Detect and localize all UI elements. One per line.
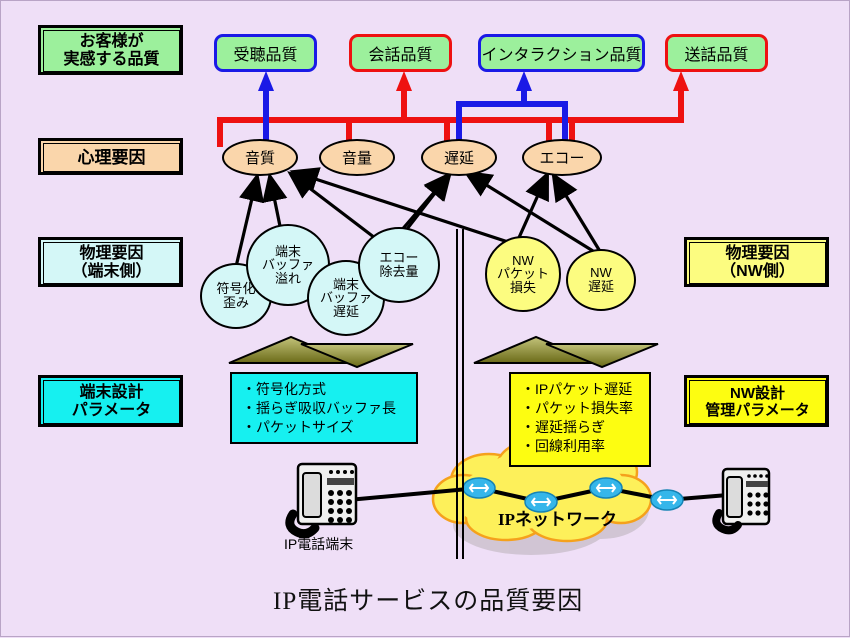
category-plate-psychological: 心理要因 [38,138,183,175]
link-stem-transmission [678,87,684,121]
router-icon [651,490,683,510]
category-plate-customer-quality: お客様が 実感する品質 [38,25,183,75]
link-interaction-trunk [456,101,568,107]
diagram-title: IP電話サービスの品質要因 [273,581,583,617]
link-stem-conversation [401,87,407,119]
category-plate-customer-quality-label: お客様が 実感する品質 [43,30,180,72]
ip-phone-right-icon [716,469,769,530]
link-riser-onshitsu-red [217,117,223,147]
physical-nw-packet-loss[interactable]: NW パケット 損失 [485,236,561,312]
diagram-canvas: お客様が 実感する品質 心理要因 物理要因 （端末側） 物理要因 （NW側） 端… [0,0,850,637]
network-parameters-box: ・IPパケット遅延 ・パケット損失率 ・遅延揺らぎ ・回線利用率 [509,372,651,467]
psychological-echo[interactable]: エコー [522,139,602,176]
quality-box-conversation[interactable]: 会話品質 [349,34,452,72]
quality-box-interaction[interactable]: インタラクション品質 [478,34,645,72]
center-divider-line-2 [462,229,464,559]
category-plate-terminal-design-param: 端末設計 パラメータ [38,375,183,427]
ip-phone-left-icon [290,464,356,534]
quality-box-transmission[interactable]: 送話品質 [665,34,768,72]
connector-overlay [1,1,850,638]
network-links [337,488,728,502]
category-plate-physical-network: 物理要因 （NW側） [684,237,829,287]
category-plate-physical-network-label: 物理要因 （NW側） [689,242,826,284]
arrow-to-echo-right [554,176,601,253]
physical-nw-delay[interactable]: NW 遅延 [566,249,636,311]
psychological-onshitsu[interactable]: 音質 [222,139,298,176]
psychological-chien[interactable]: 遅延 [421,139,497,176]
category-plate-physical-terminal: 物理要因 （端末側） [38,237,183,287]
quality-box-listening[interactable]: 受聴品質 [214,34,317,72]
category-plate-network-design-param: NW設計 管理パラメータ [684,375,829,427]
terminal-parameters-box: ・符号化方式 ・揺らぎ吸収バッファ長 ・パケットサイズ [230,372,418,444]
category-plate-network-design-param-label: NW設計 管理パラメータ [689,380,826,424]
link-stem-interaction [521,87,527,105]
category-plate-physical-terminal-label: 物理要因 （端末側） [43,242,180,284]
link-transmission-trunk [569,117,684,123]
category-plate-terminal-design-param-label: 端末設計 パラメータ [43,380,180,424]
router-icon [590,478,622,498]
chevron-down-network [546,344,658,367]
category-plate-psychological-label: 心理要因 [43,143,180,172]
cloud-caption: IPネットワーク [498,505,617,530]
router-icon [463,478,495,498]
chevron-up-terminal [229,337,353,363]
chevron-up-network [474,337,598,363]
psychological-onryou[interactable]: 音量 [319,139,395,176]
phone-left-caption: IP電話端末 [284,534,353,554]
center-divider-line-1 [456,229,458,559]
physical-echo-cancel-amount[interactable]: エコー 除去量 [358,227,440,303]
chevron-down-terminal [301,344,413,367]
